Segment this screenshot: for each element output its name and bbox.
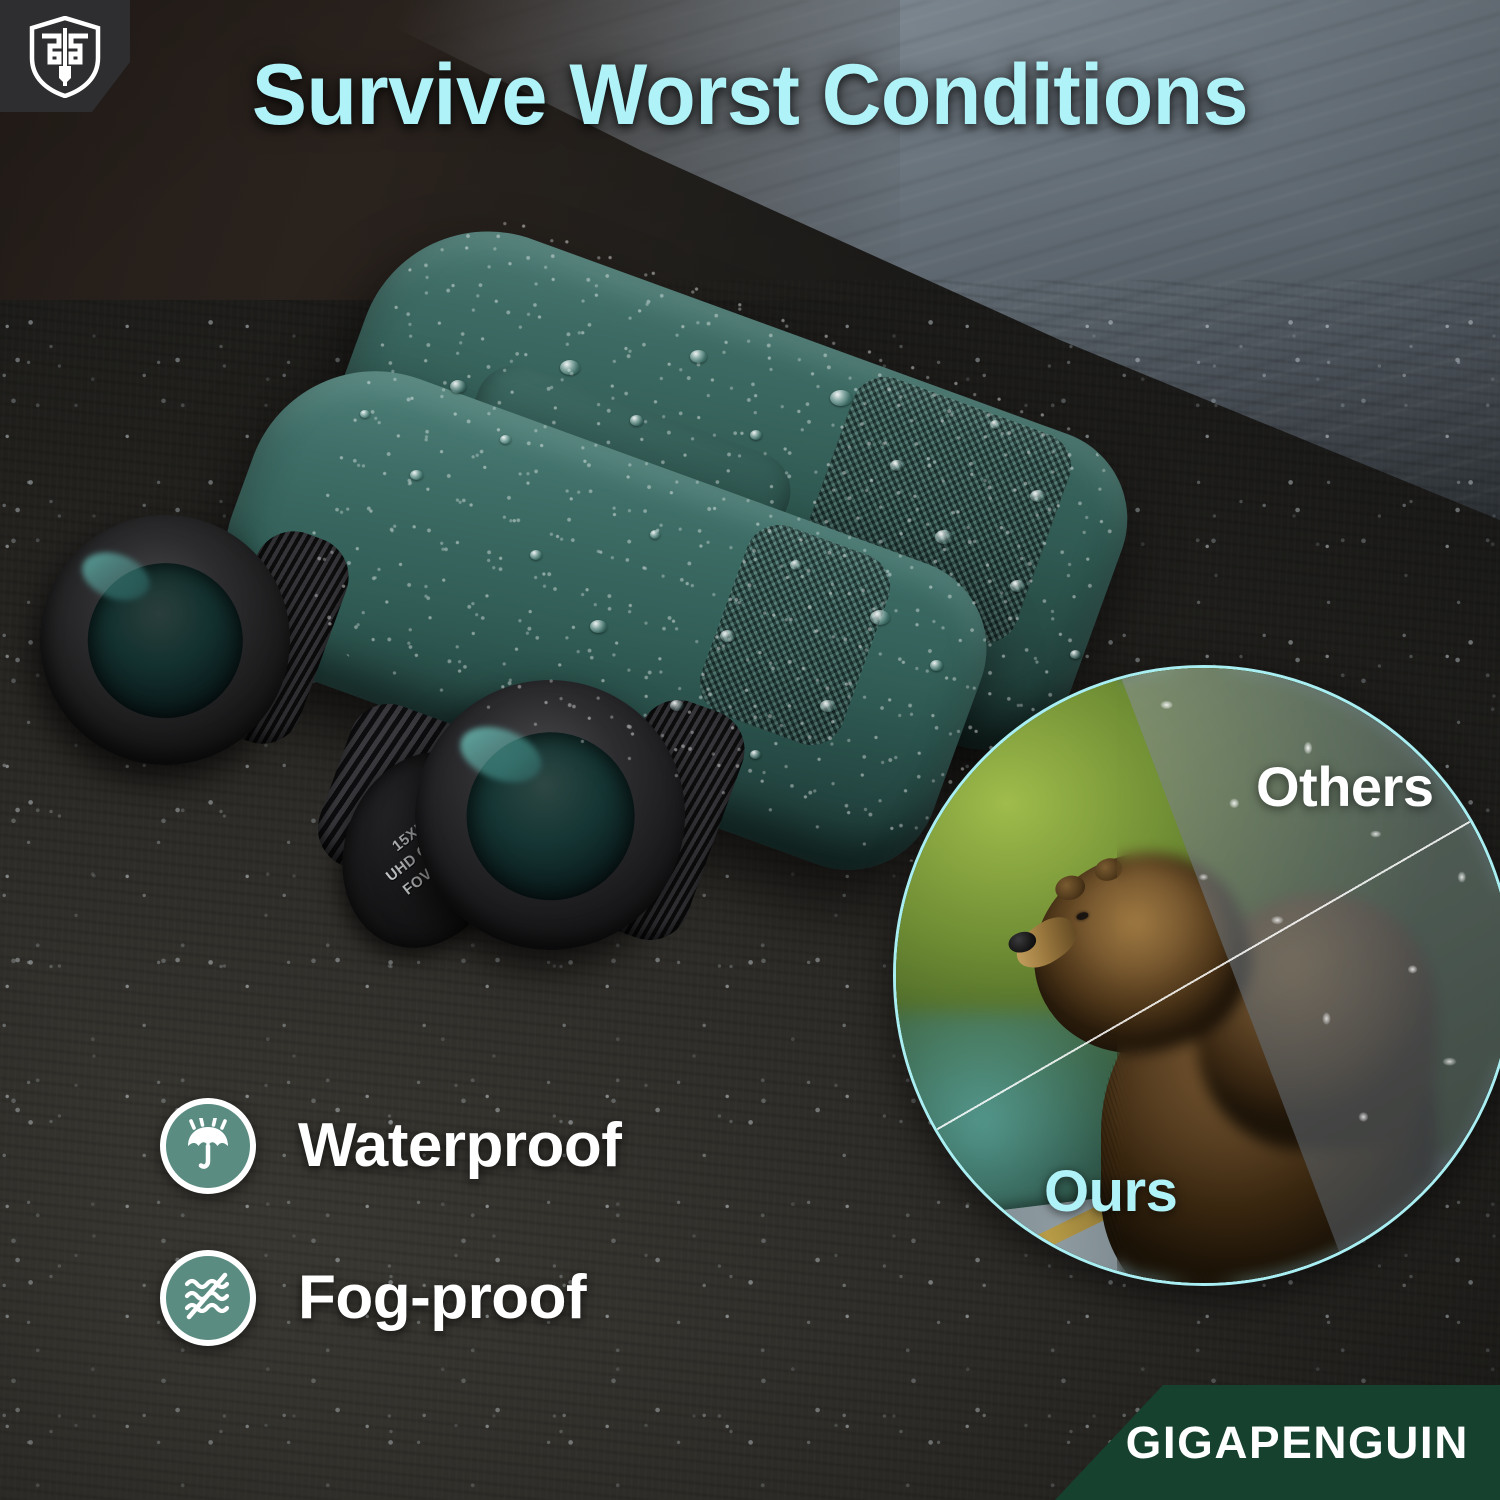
page-title: Survive Worst Conditions xyxy=(30,52,1470,138)
product-infographic: 15X52 UHD GLASS FOV 251FT xyxy=(0,0,1500,1500)
brand-name: GIGAPENGUIN xyxy=(1126,1417,1469,1469)
feature-label-fogproof: Fog-proof xyxy=(298,1267,586,1329)
comparison-label-others: Others xyxy=(1256,754,1434,819)
bear-ear-left xyxy=(1052,872,1087,903)
comparison-circle: Others Ours xyxy=(893,665,1500,1286)
fog-slash-icon xyxy=(160,1250,256,1346)
feature-label-waterproof: Waterproof xyxy=(298,1115,621,1177)
bear-ear-right xyxy=(1092,855,1125,884)
comparison-label-ours: Ours xyxy=(1044,1158,1177,1225)
feature-item-fogproof: Fog-proof xyxy=(160,1250,621,1346)
bear-eye xyxy=(1075,911,1088,921)
umbrella-rain-icon xyxy=(160,1098,256,1194)
feature-item-waterproof: Waterproof xyxy=(160,1098,621,1194)
feature-list: Waterproof Fog-proof xyxy=(160,1098,621,1402)
